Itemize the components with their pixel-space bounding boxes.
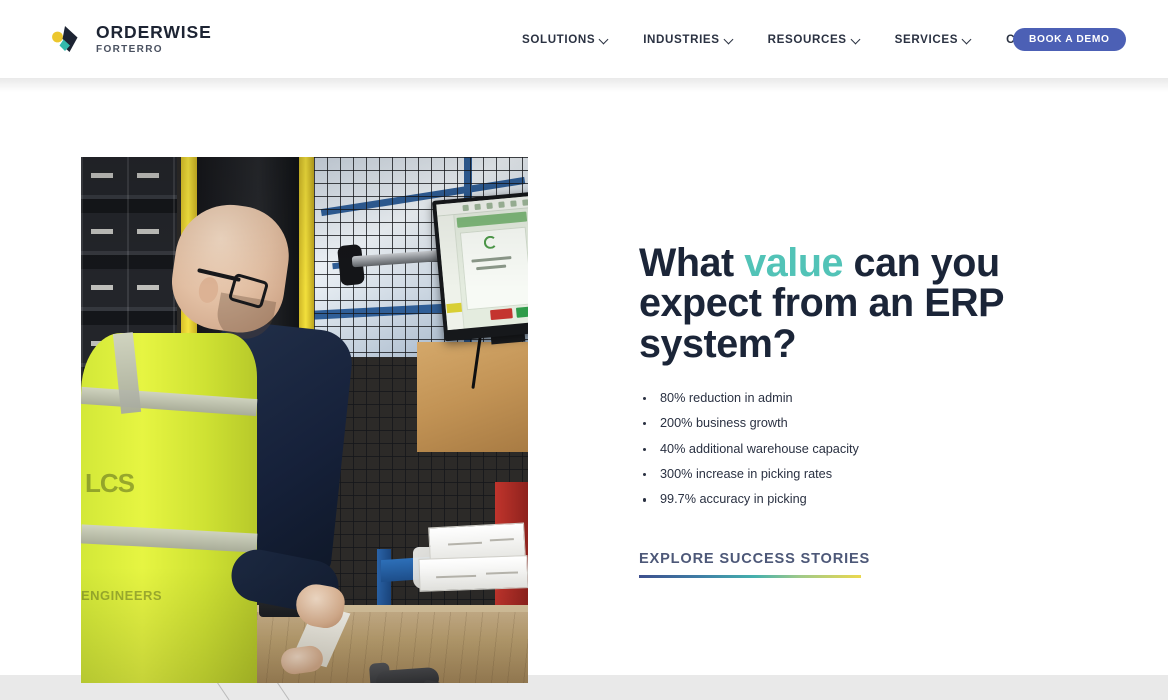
chevron-down-icon (600, 36, 609, 45)
logo-wordmark: ORDERWISE FORTERRO (96, 23, 212, 54)
nav-label: SOLUTIONS (522, 33, 595, 46)
list-item: 300% increase in picking rates (641, 466, 1059, 483)
benefits-list: 80% reduction in admin 200% business gro… (639, 390, 1059, 508)
nav-item-services[interactable]: SERVICES (878, 0, 989, 78)
nav-item-industries[interactable]: INDUSTRIES (626, 0, 750, 78)
headline-part-1: What (639, 241, 744, 285)
vest-logo-text: ENGINEERS (81, 588, 176, 606)
erp-monitor (432, 188, 528, 342)
orderwise-logo-icon (51, 23, 85, 55)
erp-screen (436, 192, 528, 330)
nav-item-resources[interactable]: RESOURCES (751, 0, 878, 78)
list-item: 40% additional warehouse capacity (641, 441, 1059, 458)
main-navigation: SOLUTIONS INDUSTRIES RESOURCES SERVICES … (505, 0, 1100, 78)
cta-label: EXPLORE SUCCESS STORIES (639, 551, 870, 567)
logo-subtitle: FORTERRO (96, 45, 212, 55)
list-item: 80% reduction in admin (641, 390, 1059, 407)
nav-item-solutions[interactable]: SOLUTIONS (505, 0, 626, 78)
chevron-down-icon (725, 36, 734, 45)
cta-gradient-underline (639, 575, 861, 578)
nav-label: SERVICES (895, 33, 958, 46)
list-item: 200% business growth (641, 415, 1059, 432)
chevron-down-icon (852, 36, 861, 45)
page-title: What value can you expect from an ERP sy… (639, 243, 1059, 364)
hero-image: LCS ENGINEERS (81, 157, 528, 683)
logo-name: ORDERWISE (96, 23, 212, 41)
explore-success-stories-link[interactable]: EXPLORE SUCCESS STORIES (639, 551, 870, 578)
book-a-demo-button[interactable]: BOOK A DEMO (1013, 28, 1126, 51)
list-item: 99.7% accuracy in picking (641, 491, 1059, 508)
logo-link[interactable]: ORDERWISE FORTERRO (51, 23, 212, 55)
chevron-down-icon (963, 36, 972, 45)
hi-vis-vest: LCS ENGINEERS (81, 333, 257, 683)
cardboard-packing-area (417, 342, 528, 452)
site-header: ORDERWISE FORTERRO SOLUTIONS INDUSTRIES … (0, 0, 1168, 78)
page-root: ORDERWISE FORTERRO SOLUTIONS INDUSTRIES … (0, 0, 1168, 700)
vest-logo-mark: LCS (85, 468, 137, 520)
white-box-lower (418, 555, 528, 592)
hero-section: LCS ENGINEERS What value can you expect … (0, 78, 1168, 675)
hero-content: What value can you expect from an ERP sy… (639, 243, 1059, 578)
nav-label: INDUSTRIES (643, 33, 719, 46)
headline-accent-word: value (744, 241, 843, 285)
hero-image-content: LCS ENGINEERS (81, 157, 528, 683)
nav-label: RESOURCES (768, 33, 847, 46)
